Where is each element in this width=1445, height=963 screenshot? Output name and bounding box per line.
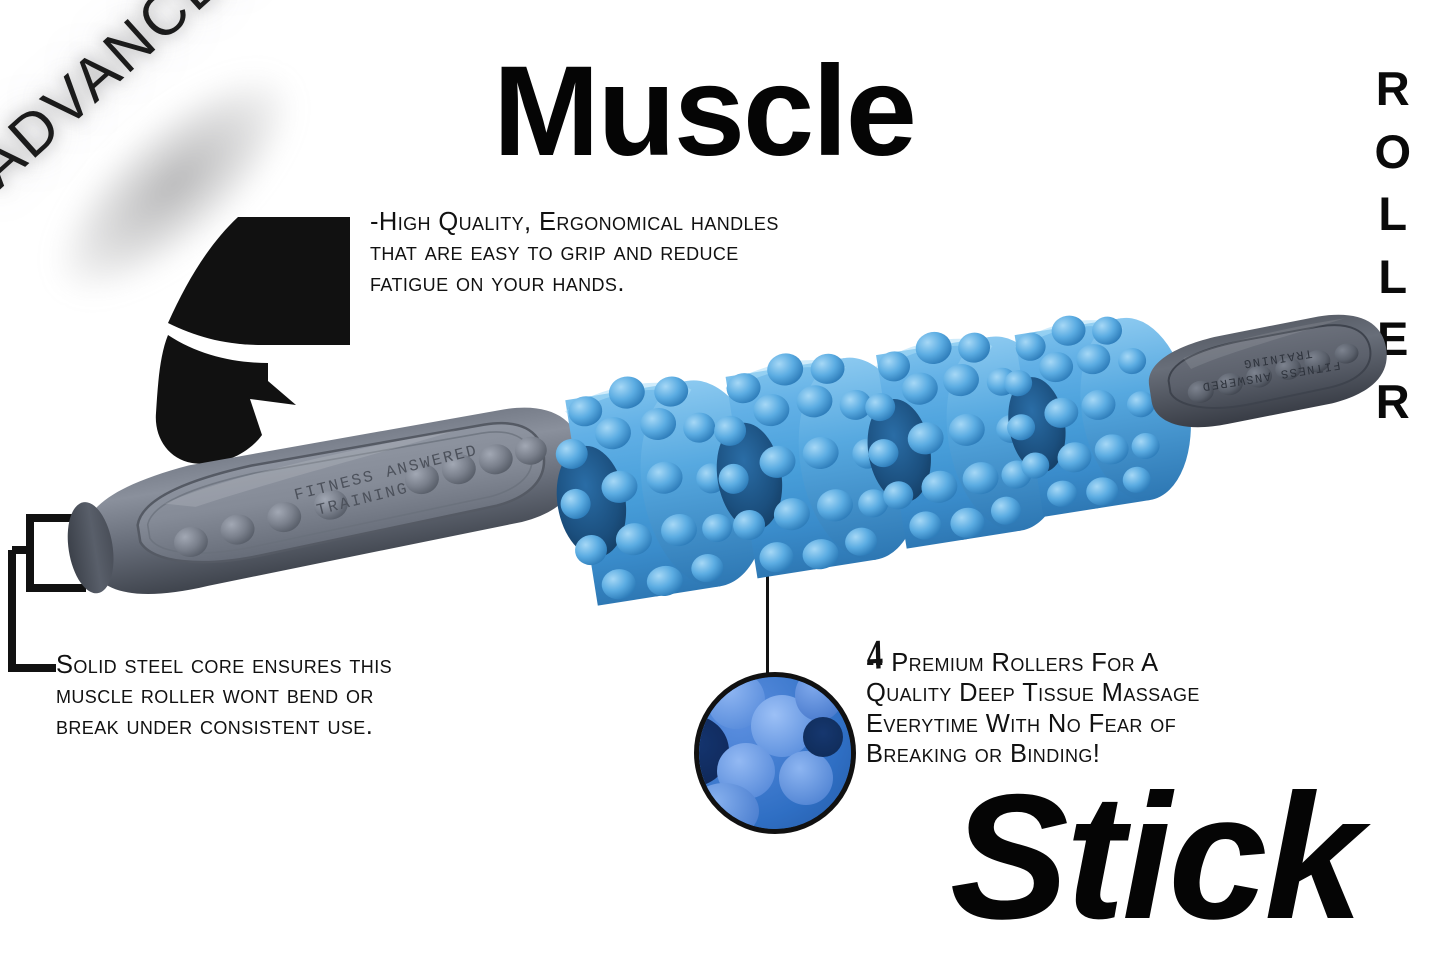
roller-assembly	[539, 290, 1206, 610]
left-handle: FITNESS ANSWERED TRAINING	[58, 398, 594, 607]
page-title-stick: Stick	[950, 768, 1360, 946]
right-handle: FITNESS ANSWERED TRAINING	[1143, 307, 1394, 436]
poster-canvas: ADVANCED Muscle R O L L E R -High Qualit…	[0, 0, 1445, 963]
